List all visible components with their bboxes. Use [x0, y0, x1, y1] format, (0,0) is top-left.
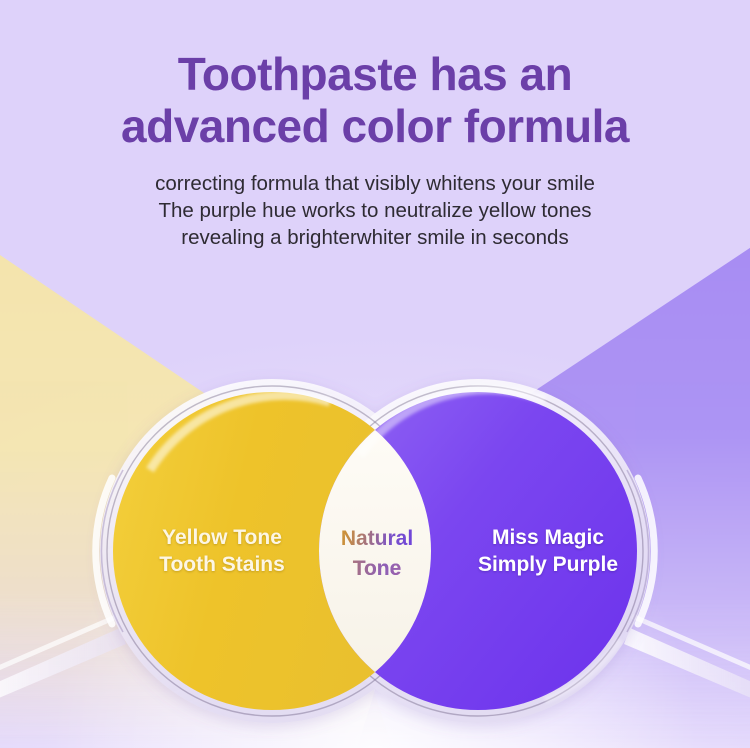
- subtitle-line-1: correcting formula that visibly whitens …: [0, 170, 750, 197]
- page-title: Toothpaste has an advanced color formula: [45, 48, 705, 152]
- header: Toothpaste has an advanced color formula…: [0, 48, 750, 251]
- venn-label-center-line1: Natural: [312, 524, 442, 554]
- subtitle-line-3: revealing a brighterwhiter smile in seco…: [0, 224, 750, 251]
- title-line-1: Toothpaste has an: [178, 48, 572, 100]
- subtitle: correcting formula that visibly whitens …: [0, 170, 750, 251]
- venn-label-center-line2: Tone: [312, 554, 442, 584]
- venn-label-center: Natural Tone: [312, 524, 442, 584]
- subtitle-line-2: The purple hue works to neutralize yello…: [0, 197, 750, 224]
- title-line-2: advanced color formula: [45, 100, 705, 152]
- poster-canvas: Toothpaste has an advanced color formula…: [0, 0, 750, 748]
